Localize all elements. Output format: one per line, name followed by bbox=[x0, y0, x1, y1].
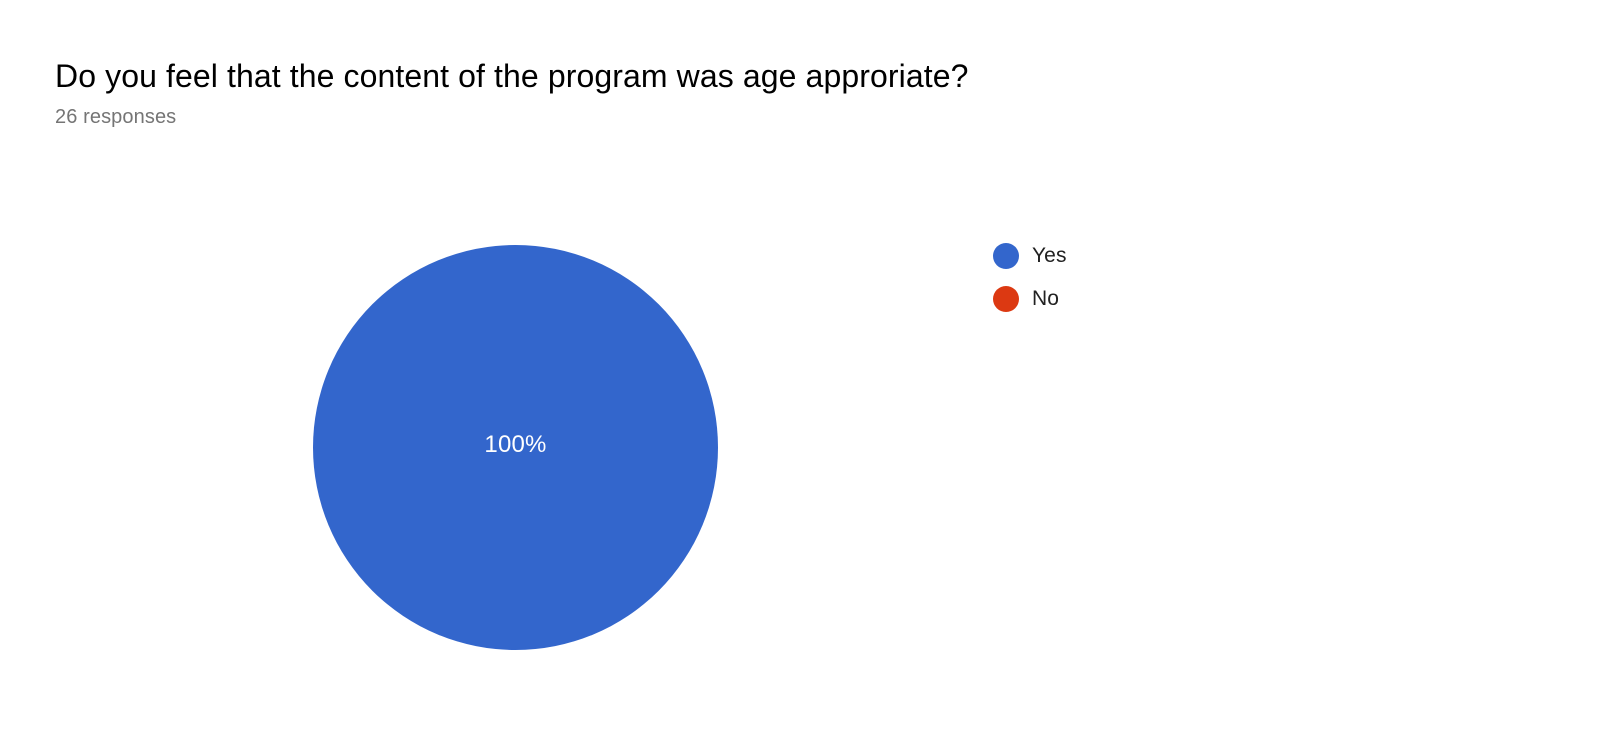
circle-swatch-icon bbox=[993, 243, 1019, 269]
circle-swatch-icon bbox=[993, 286, 1019, 312]
legend-item-no[interactable]: No bbox=[993, 285, 1067, 313]
response-count-label: 26 responses bbox=[55, 104, 1535, 130]
pie-svg bbox=[313, 245, 718, 650]
pie-chart-graphic: 100% bbox=[313, 245, 718, 650]
chart-legend: Yes No bbox=[993, 242, 1067, 328]
pie-chart: 100% Yes No bbox=[0, 180, 1600, 720]
legend-label-no: No bbox=[1032, 286, 1059, 312]
survey-result-page: Do you feel that the content of the prog… bbox=[0, 0, 1600, 738]
question-header: Do you feel that the content of the prog… bbox=[55, 56, 1535, 130]
legend-item-yes[interactable]: Yes bbox=[993, 242, 1067, 270]
page-title: Do you feel that the content of the prog… bbox=[55, 56, 1535, 96]
legend-label-yes: Yes bbox=[1032, 243, 1067, 269]
pie-slice-yes[interactable] bbox=[313, 245, 718, 650]
